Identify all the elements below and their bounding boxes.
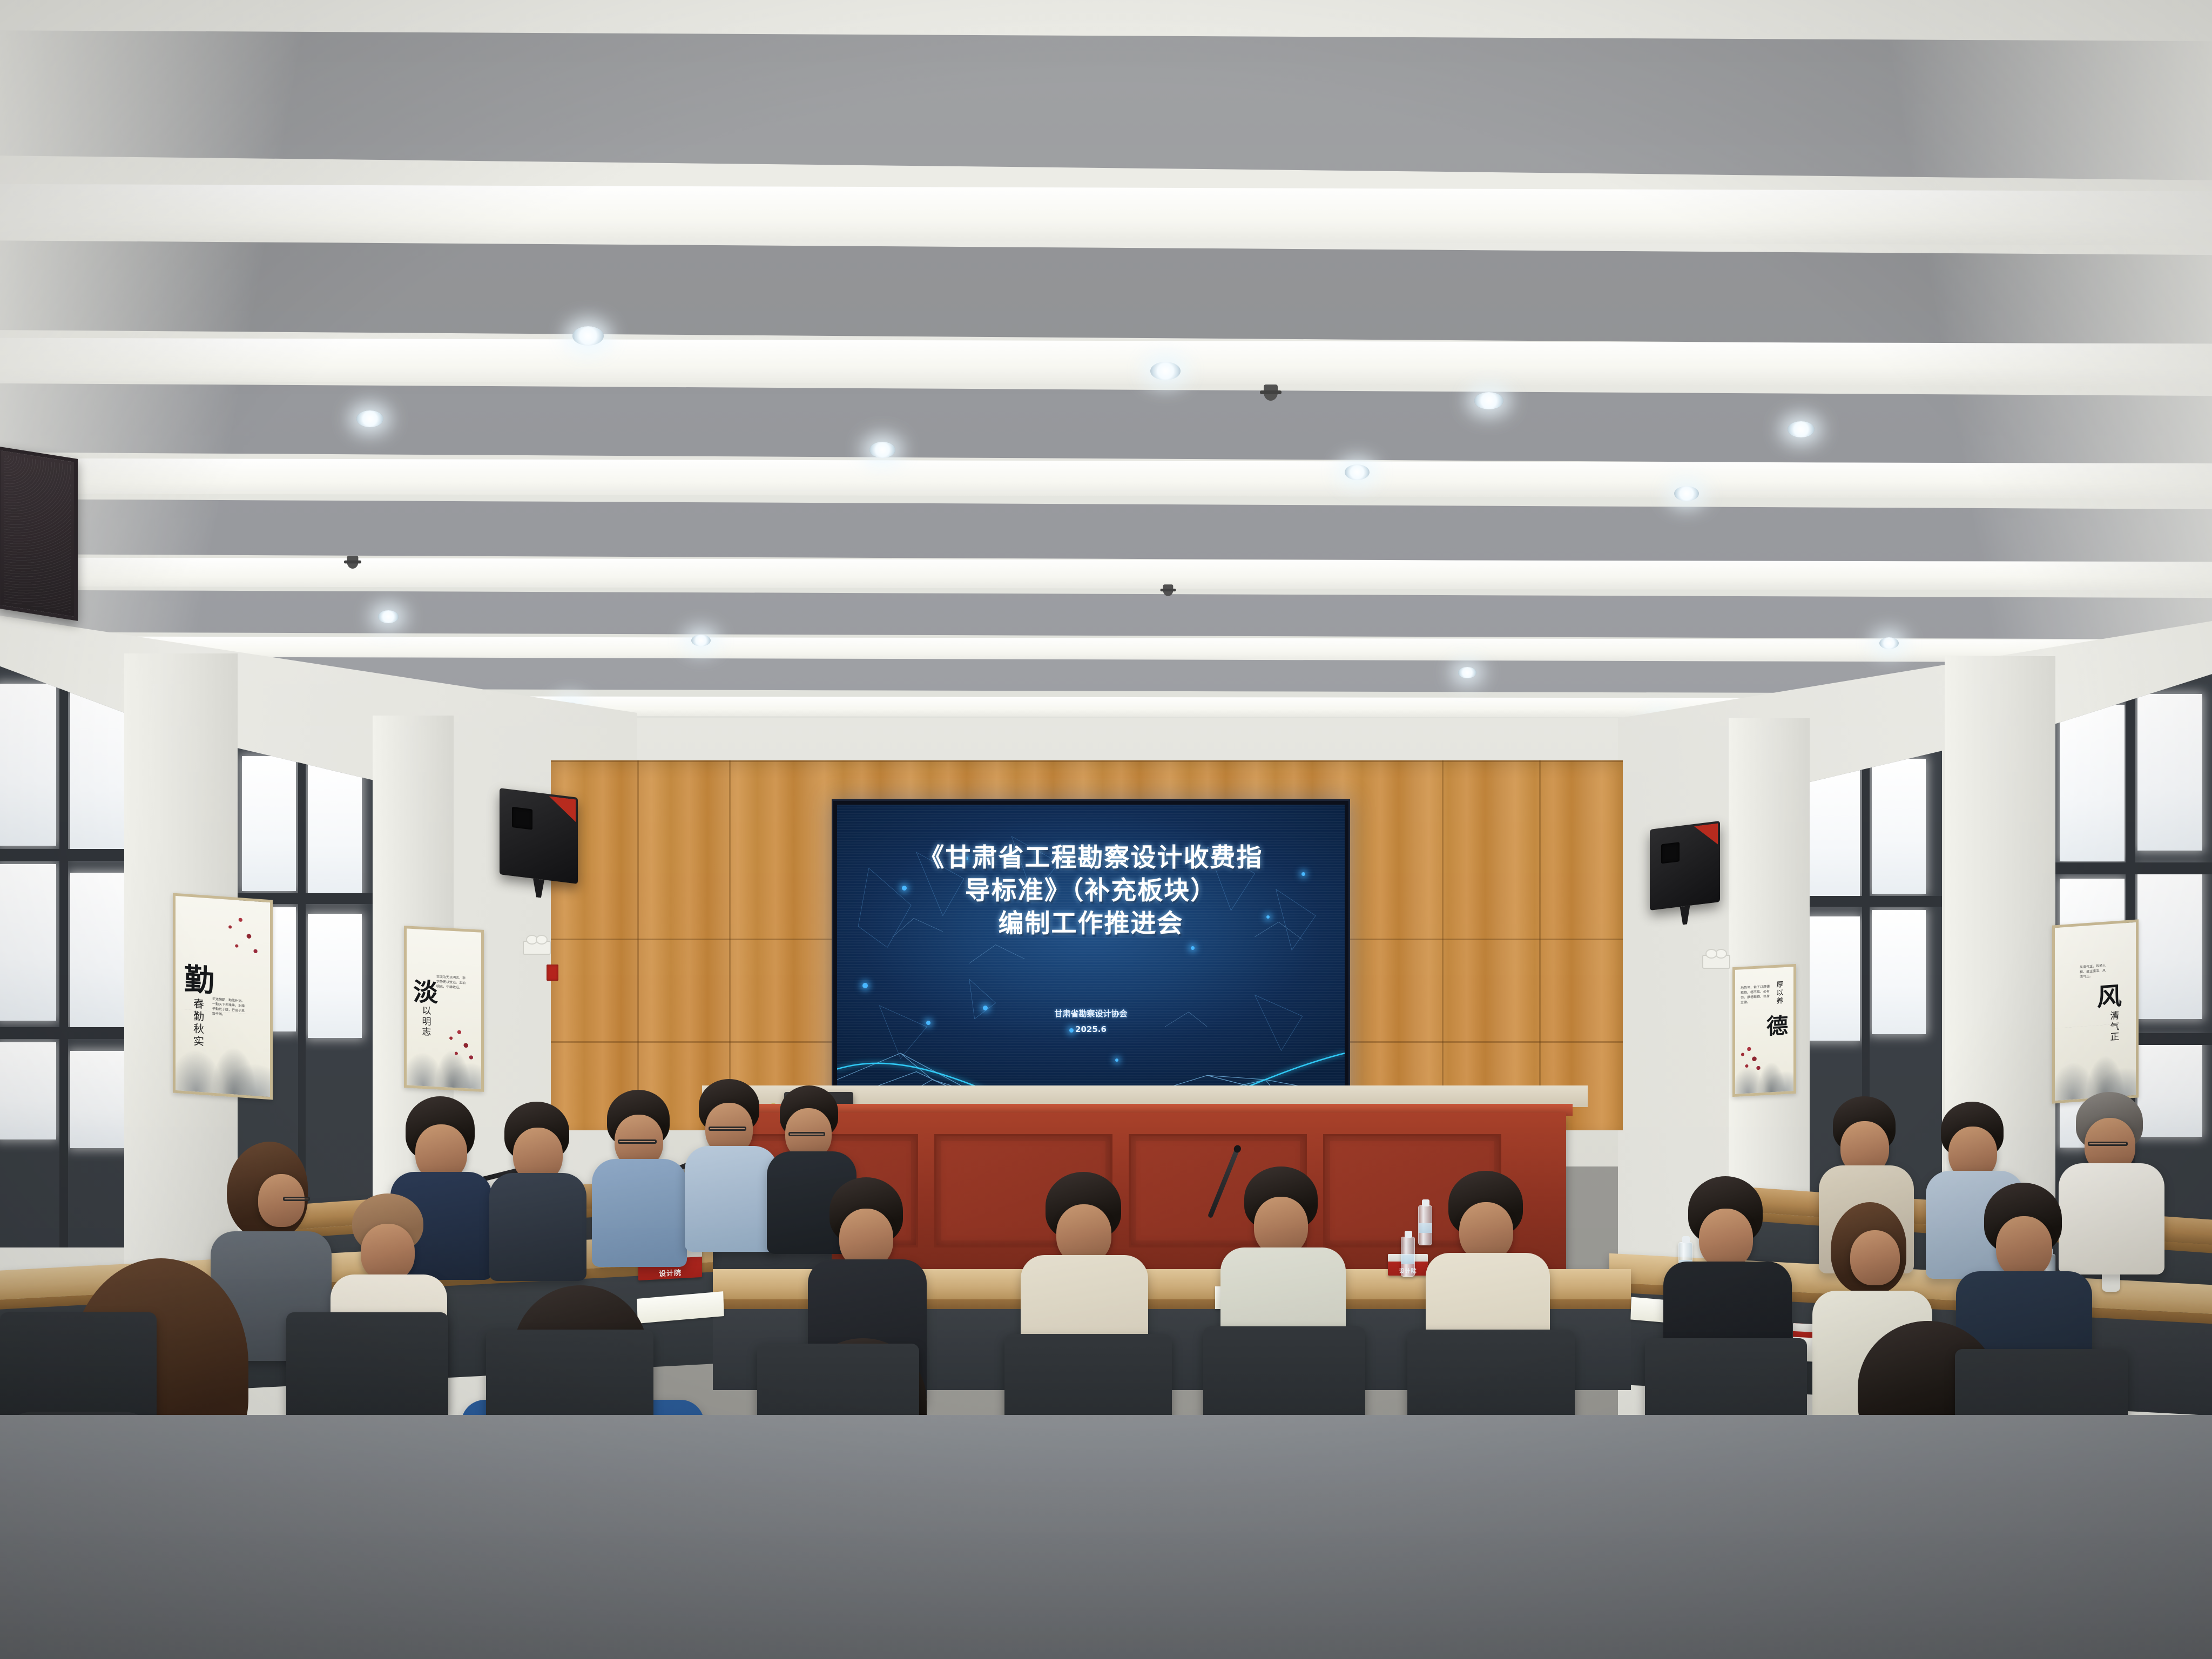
window-pane [308,763,362,898]
wall-art-panel-1: 勤 春勤秋实 天道酬勤，勤能补拙。一勤天下无难事，业精于勤荒于嬉，行成于思毁于随… [173,893,273,1100]
loudspeaker-left [500,788,578,884]
calligraphy-character: 德 [1766,1008,1788,1041]
loudspeaker-right [1650,821,1720,911]
panel-body-text: 地势坤，君子以厚德载物。德不孤，必有邻。厚德载物，修身立德。 [1741,984,1771,1005]
torso [2059,1163,2164,1274]
window-pane [1872,910,1926,1034]
window-pane [1806,765,1860,900]
water-bottle[interactable] [1418,1205,1432,1245]
window-pane [2137,868,2202,1019]
sprinkler-head [1163,584,1174,596]
screen-scanlines [837,805,1345,1134]
corner-speaker-panel [0,446,78,621]
window-mullion [2055,862,2212,874]
calligraphy-character: 勤 [184,955,214,1001]
window-pane [2137,694,2202,851]
panel-body-text: 非淡泊无以明志，非宁静无以致远。淡泊明志，宁静致远。 [436,974,466,990]
torso [592,1159,687,1267]
downlight [1458,667,1476,678]
window-pane [0,864,56,1021]
head [1996,1216,2052,1278]
torso [685,1146,778,1252]
window-pane [308,914,362,1038]
head [1254,1197,1308,1255]
window-mullion [0,849,135,861]
speaker-port [512,807,532,830]
eyeglasses [618,1139,657,1144]
window-mullion [0,1027,135,1039]
window-pane [0,1042,56,1139]
downlight [572,326,604,346]
downlight [1150,362,1181,380]
window-pane [2137,1040,2202,1137]
calligraphy-subtext: 厚以养 [1775,981,1785,1006]
plum-blossom-art [220,907,267,976]
downlight [1674,486,1699,501]
downlight [1879,637,1899,649]
window-pane [70,1051,129,1148]
head [1459,1202,1513,1260]
ink-landscape-art [2055,1022,2136,1101]
window-pane [70,873,129,1029]
water-bottle[interactable] [1401,1237,1415,1277]
eyeglasses [788,1132,825,1136]
window-pane [1872,759,1926,894]
speaker-brand-tag [549,796,576,822]
window-mullion [298,729,306,1204]
calligraphy-character: 风 [2097,976,2122,1014]
torso [489,1173,586,1281]
window-pane [2060,705,2125,861]
ink-landscape-art [407,1020,481,1089]
calligraphy-character: 淡 [413,972,438,1009]
downlight [1345,464,1370,480]
floor [0,1415,2212,1659]
head [1699,1209,1753,1268]
conference-room-scene: 《甘肃省工程勘察设计收费指 导标准》（补充板块） 编制工作推进会 甘肃省勘察设计… [0,0,2212,1659]
pillar [1729,718,1810,1204]
downlight [869,442,895,458]
eyeglasses [709,1127,746,1131]
wall-art-panel-3: 德 厚以养 地势坤，君子以厚德载物。德不孤，必有邻。厚德载物，修身立德。 [1732,964,1796,1097]
led-screen-surface: 《甘肃省工程勘察设计收费指 导标准》（补充板块） 编制工作推进会 甘肃省勘察设计… [837,805,1345,1134]
downlight [691,635,711,646]
speaker-grille [4,454,71,613]
emergency-light [523,941,551,955]
downlight [356,410,383,427]
window-pane [0,684,56,846]
eyeglasses [2088,1142,2128,1146]
wall-art-panel-2: 淡 以明志 非淡泊无以明志，非宁静无以致远。淡泊明志，宁静致远。 [404,926,484,1092]
fire-alarm-box [547,965,558,981]
panel-body-text: 风清气正，政通人和。清正廉洁，风清气正。 [2080,963,2106,980]
window-wall-left [0,664,135,1247]
emergency-light [1702,955,1730,969]
downlight [1788,421,1815,437]
speaker-brand-tag [1694,824,1718,847]
sprinkler-head [1264,385,1278,401]
wall-art-panel-4: 风 清气正 风清气正，政通人和。清正廉洁，风清气正。 [2052,919,2139,1103]
speaker-port [1661,842,1680,864]
placard-text: 设计院 [659,1267,682,1278]
ink-landscape-art [1735,1039,1793,1094]
window-pane [70,692,129,854]
sprinkler-head [347,556,359,569]
window-mullion [1802,896,1942,907]
window-pane [1806,916,1860,1041]
ink-landscape-art [176,1009,270,1097]
downlight [1474,392,1503,409]
head [1850,1230,1900,1285]
downlight [378,610,399,623]
eyeglasses [283,1197,310,1201]
window-pane [242,756,296,891]
window-mullion [59,664,68,1247]
head [361,1224,415,1281]
